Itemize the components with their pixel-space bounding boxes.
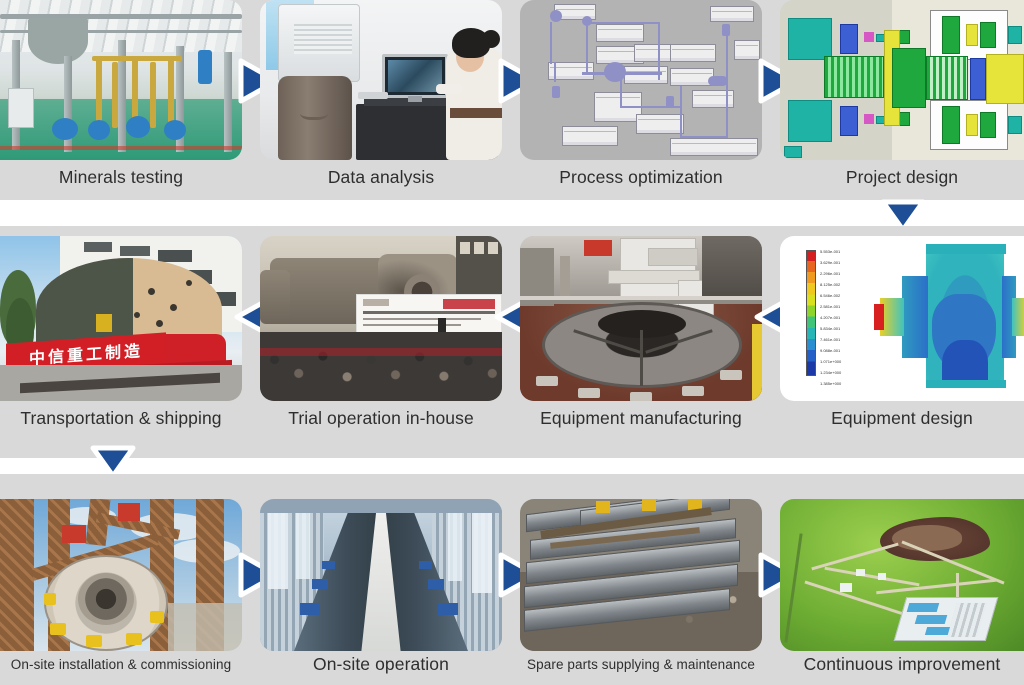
step-caption-continuous-improvement: Continuous improvement <box>780 654 1024 675</box>
step-caption-on-site-operation: On-site operation <box>260 654 502 675</box>
step-image-on-site-installation <box>0 499 242 651</box>
workflow-row-3: On-site installation & commissioning <box>0 474 1024 685</box>
step-caption-process-optimization: Process optimization <box>520 167 762 188</box>
step-caption-trial-operation-in-house: Trial operation in-house <box>260 408 502 429</box>
step-image-minerals-testing <box>0 0 242 160</box>
step-image-trial-operation-in-house <box>260 236 502 401</box>
workflow-diagram: Minerals testing <box>0 0 1024 685</box>
step-image-equipment-design: 5.553e-001 3.629e-001 2.296e-001 8.125e-… <box>780 236 1024 401</box>
step-caption-spare-parts-supplying: Spare parts supplying & maintenance <box>520 657 762 672</box>
step-image-equipment-manufacturing <box>520 236 762 401</box>
workflow-row-2: 中信重工制造 Transportation & shipping <box>0 226 1024 458</box>
step-image-process-optimization <box>520 0 762 160</box>
step-caption-equipment-design: Equipment design <box>780 408 1024 429</box>
step-caption-equipment-manufacturing: Equipment manufacturing <box>520 408 762 429</box>
step-image-on-site-operation <box>260 499 502 651</box>
step-caption-data-analysis: Data analysis <box>260 167 502 188</box>
step-image-continuous-improvement <box>780 499 1024 651</box>
step-image-spare-parts-supplying <box>520 499 762 651</box>
step-image-data-analysis <box>260 0 502 160</box>
step-caption-project-design: Project design <box>780 167 1024 188</box>
step-caption-minerals-testing: Minerals testing <box>0 167 242 188</box>
step-caption-on-site-installation: On-site installation & commissioning <box>0 657 242 672</box>
step-caption-transportation-shipping: Transportation & shipping <box>0 408 242 429</box>
step-image-project-design <box>780 0 1024 160</box>
step-image-transportation-shipping: 中信重工制造 <box>0 236 242 401</box>
workflow-row-1: Minerals testing <box>0 0 1024 200</box>
